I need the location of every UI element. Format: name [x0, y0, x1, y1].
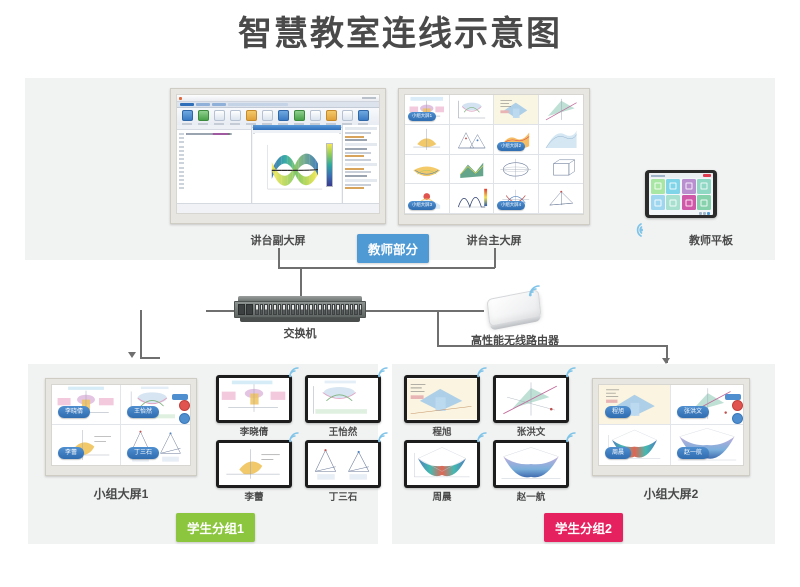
wifi-icon [565, 431, 579, 443]
tablet-app-grid [651, 179, 711, 210]
quadrant[interactable]: 丁三石 [121, 425, 190, 465]
grid-cell[interactable]: 小组大屏3 [405, 184, 450, 214]
connector-line [300, 267, 302, 297]
cell-label: 小组大屏1 [408, 112, 436, 121]
student-tablet[interactable] [404, 440, 480, 488]
ribbon-button [358, 110, 368, 125]
diagram-canvas: 智慧教室连线示意图 [0, 0, 800, 587]
ribbon-button [214, 110, 224, 125]
app-tile[interactable] [697, 195, 711, 210]
connector-line [140, 310, 142, 358]
student-tablet-label: 王怡然 [305, 424, 381, 438]
grid-cell[interactable] [450, 125, 495, 155]
cell-label: 小组大屏3 [408, 201, 436, 210]
grid-cell[interactable] [450, 95, 495, 125]
network-switch-icon [234, 296, 366, 322]
caption-secondary-screen: 讲台副大屏 [208, 232, 348, 248]
figure-window [253, 125, 341, 203]
quadrant[interactable]: 程旭 [599, 385, 671, 425]
connector-line [437, 310, 439, 346]
podium-secondary-screen[interactable] [170, 88, 386, 224]
teacher-tablet[interactable] [645, 170, 717, 218]
wifi-icon [528, 283, 544, 297]
grid-cell[interactable] [450, 155, 495, 185]
student-tablet-label: 周晨 [404, 489, 480, 503]
wifi-icon [288, 366, 302, 378]
app-tile[interactable] [666, 179, 680, 194]
caption-switch: 交换机 [250, 325, 350, 341]
ribbon-button [326, 110, 336, 125]
matlab-titlebar [177, 95, 379, 102]
tablet-statusbar [649, 173, 713, 178]
grid-cell[interactable] [405, 125, 450, 155]
student-tablet-label: 张洪文 [493, 424, 569, 438]
caption-group2-screen: 小组大屏2 [611, 485, 731, 502]
ribbon-button [198, 110, 208, 125]
ribbon-button [230, 110, 240, 125]
student-tablet-label: 丁三石 [305, 489, 381, 503]
podium-main-screen[interactable]: 小组大屏1 [398, 88, 590, 225]
app-tile[interactable] [682, 179, 696, 194]
ribbon-button [246, 110, 256, 125]
student-tablet[interactable] [493, 375, 569, 423]
app-tile[interactable] [651, 179, 665, 194]
quadrant-label: 周晨 [605, 447, 631, 459]
ribbon-button [278, 110, 288, 125]
main-screen-grid: 小组大屏1 [405, 95, 583, 214]
workspace-pane [342, 125, 379, 203]
ribbon-button [294, 110, 304, 125]
code-editor-pane [177, 125, 252, 203]
grid-cell[interactable] [539, 95, 584, 125]
caption-teacher-tablet: 教师平板 [656, 232, 766, 248]
quadrant[interactable]: 李晓倩 [52, 385, 121, 425]
grid-cell[interactable] [494, 95, 539, 125]
colorbar [326, 143, 333, 187]
group2-screen-quadrants: 程旭 张洪文 [599, 385, 743, 465]
screen-toolbar[interactable] [179, 394, 188, 425]
quadrant-label: 程旭 [605, 406, 631, 418]
grid-cell[interactable]: 小组大屏2 [494, 125, 539, 155]
student-tablet-label: 赵一航 [493, 489, 569, 503]
connector-line [366, 310, 484, 312]
student-tablet[interactable] [216, 375, 292, 423]
group1-screen-quadrants: 李晓倩 王怡然 [52, 385, 190, 465]
ribbon-button [262, 110, 272, 125]
quadrant[interactable]: 王怡然 [121, 385, 190, 425]
wifi-icon [565, 366, 579, 378]
wifi-icon [377, 366, 391, 378]
grid-cell[interactable] [450, 184, 495, 214]
app-tile[interactable] [666, 195, 680, 210]
connector-line [437, 345, 667, 347]
quadrant[interactable]: 李蕾 [52, 425, 121, 465]
quadrant-label: 王怡然 [127, 406, 159, 418]
grid-cell[interactable] [539, 184, 584, 214]
wifi-icon [377, 431, 391, 443]
badge-group1: 学生分组1 [176, 513, 255, 542]
quadrant-label: 丁三石 [127, 447, 159, 459]
connector-line [140, 357, 160, 359]
student-tablet-label: 李蕾 [216, 489, 292, 503]
ribbon-button [342, 110, 352, 125]
caption-group1-screen: 小组大屏1 [61, 485, 181, 502]
cell-label: 小组大屏4 [497, 201, 525, 210]
student-tablet[interactable] [493, 440, 569, 488]
badge-teacher-section: 教师部分 [357, 234, 429, 263]
quadrant-label: 李蕾 [58, 447, 84, 459]
app-tile[interactable] [651, 195, 665, 210]
badge-group2: 学生分组2 [544, 513, 623, 542]
ribbon-button [310, 110, 320, 125]
student-tablet[interactable] [404, 375, 480, 423]
student-tablet-label: 程旭 [404, 424, 480, 438]
app-tile[interactable] [682, 195, 696, 210]
student-tablet[interactable] [305, 440, 381, 488]
student-tablet-label: 李晓倩 [216, 424, 292, 438]
wifi-icon [628, 222, 646, 238]
screen-toolbar[interactable] [732, 394, 741, 425]
quadrant-label: 李晓倩 [58, 406, 90, 418]
quadrant-label: 赵一航 [677, 447, 709, 459]
connector-line [494, 248, 496, 268]
group1-big-screen[interactable]: 李晓倩 王怡然 [45, 378, 197, 476]
grid-cell[interactable] [405, 155, 450, 185]
connector-line [278, 248, 280, 268]
student-tablet[interactable] [216, 440, 292, 488]
app-tile[interactable] [697, 179, 711, 194]
wifi-icon [288, 431, 302, 443]
grid-cell[interactable]: 小组大屏1 [405, 95, 450, 125]
connector-line [206, 310, 234, 312]
wifi-icon [476, 366, 490, 378]
ribbon-button [182, 110, 192, 125]
quadrant-label: 张洪文 [677, 406, 709, 418]
matlab-window [177, 95, 379, 213]
grid-cell[interactable] [539, 125, 584, 155]
connector-line [278, 267, 495, 269]
page-title: 智慧教室连线示意图 [0, 6, 800, 55]
cell-label: 小组大屏2 [497, 142, 525, 151]
caption-main-screen: 讲台主大屏 [424, 232, 564, 248]
grid-cell[interactable] [494, 155, 539, 185]
quadrant[interactable]: 赵一航 [671, 425, 743, 465]
connector-arrow [128, 352, 136, 358]
grid-cell[interactable] [539, 155, 584, 185]
grid-cell[interactable]: 小组大屏4 [494, 184, 539, 214]
quadrant[interactable]: 张洪文 [671, 385, 743, 425]
student-tablet[interactable] [305, 375, 381, 423]
wifi-icon [476, 431, 490, 443]
quadrant[interactable]: 周晨 [599, 425, 671, 465]
group2-big-screen[interactable]: 程旭 张洪文 [592, 378, 750, 476]
